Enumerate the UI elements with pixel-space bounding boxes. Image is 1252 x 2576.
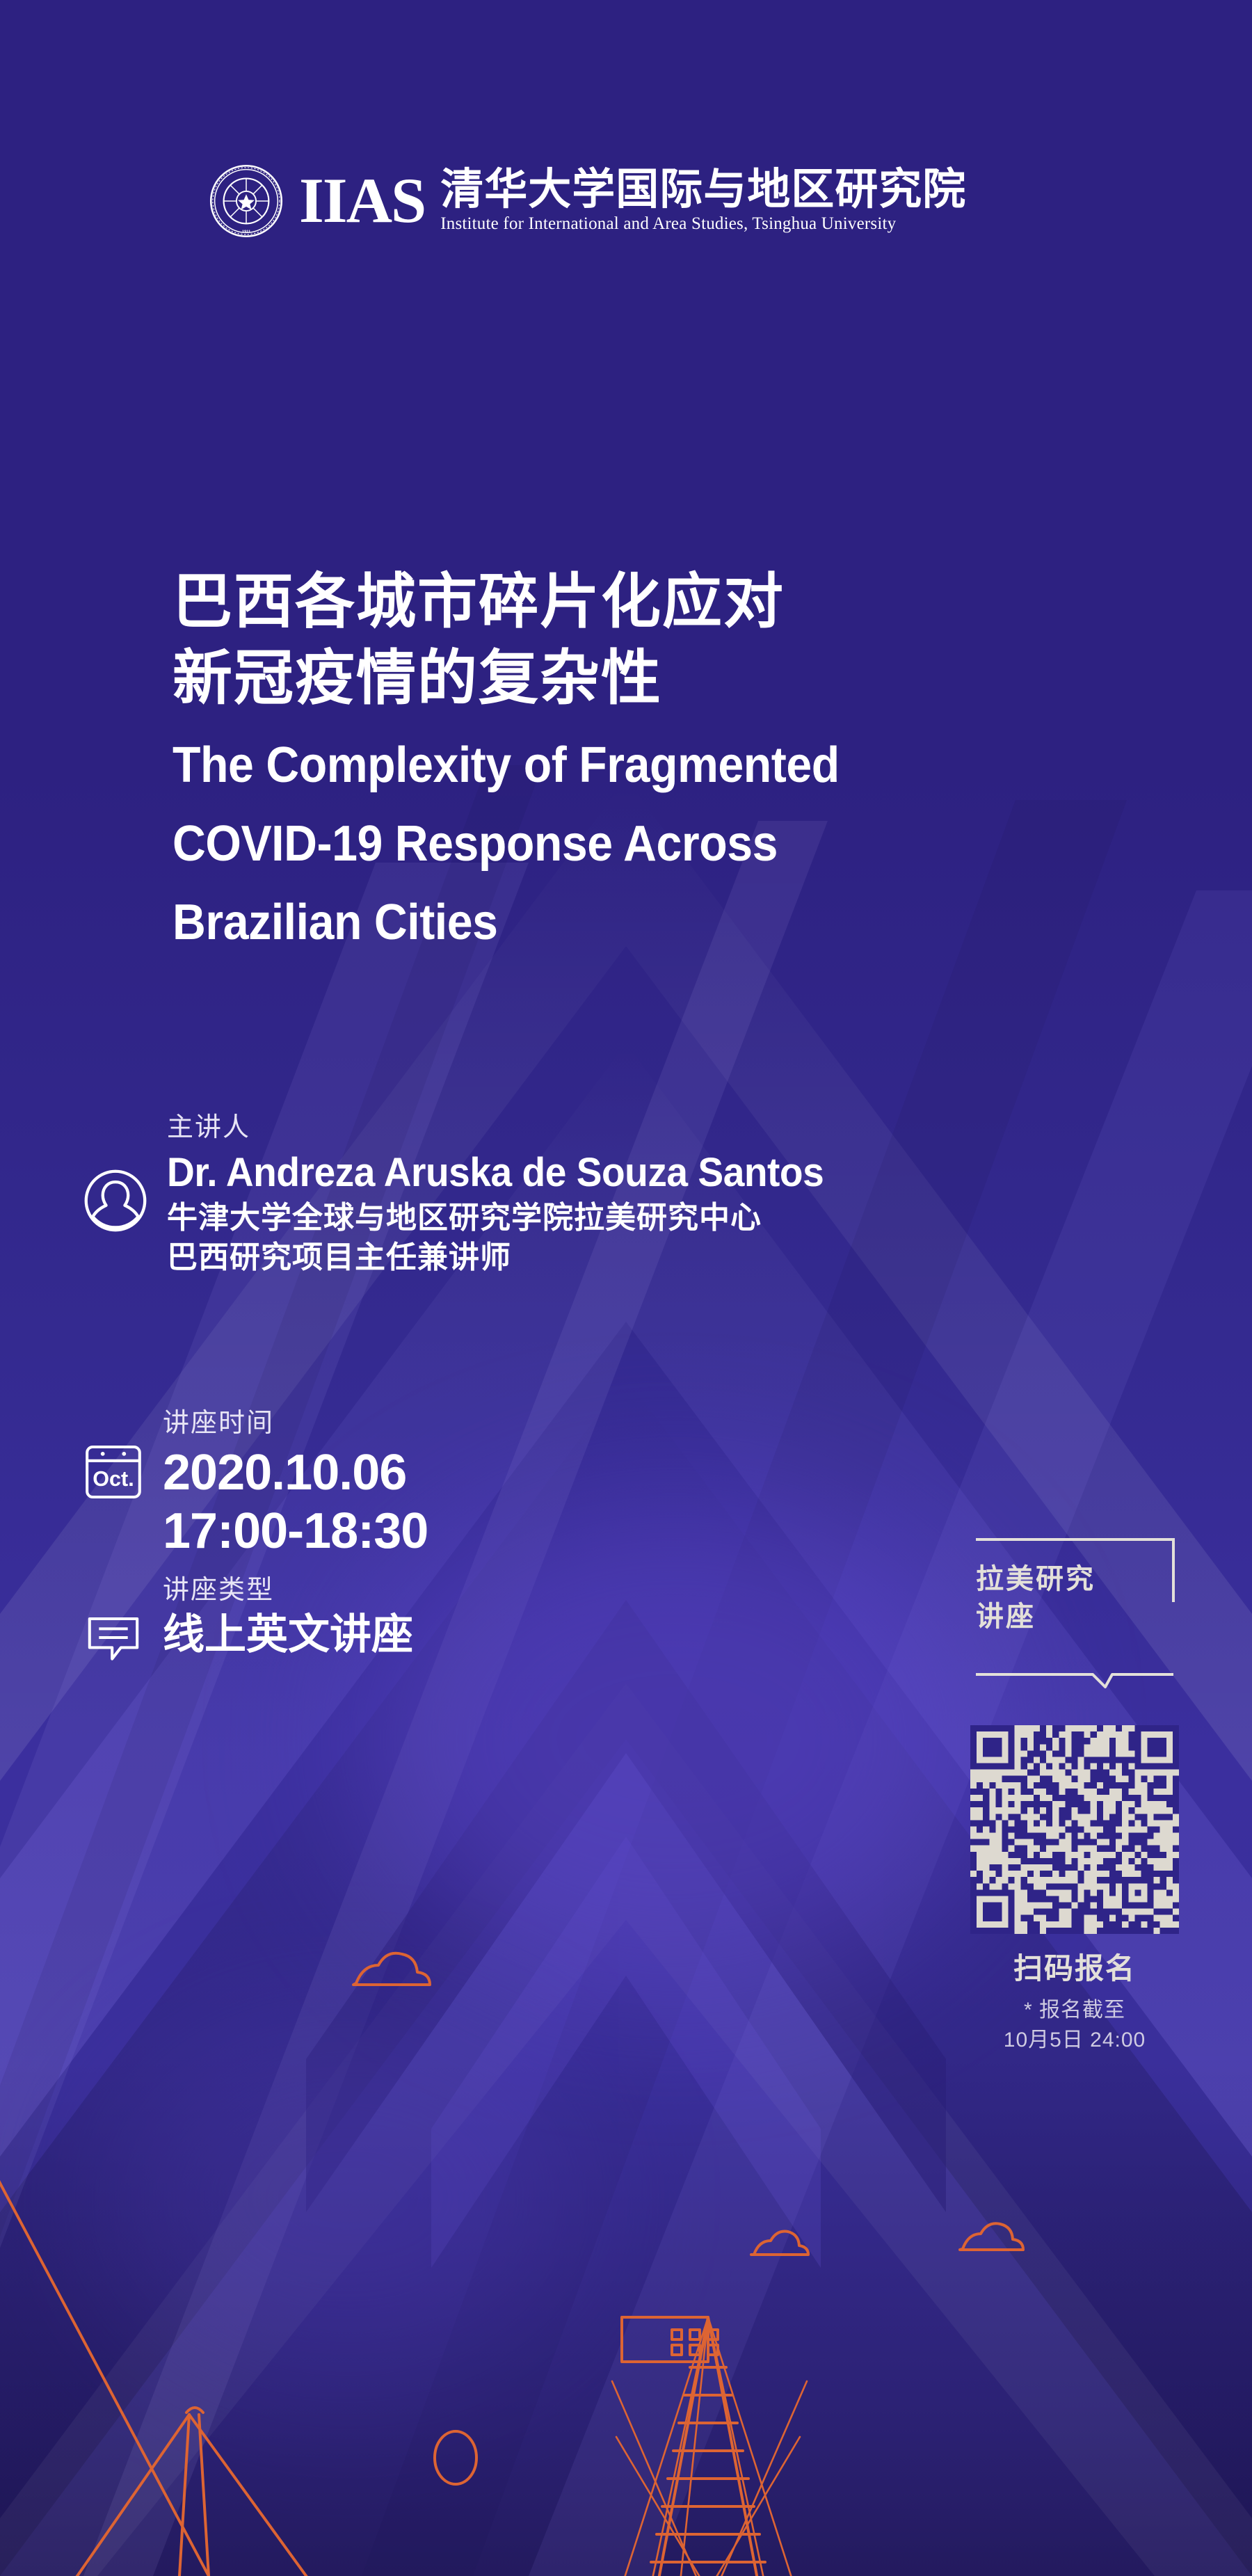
- datetime-row: Oct. 讲座时间 2020.10.06 17:00-18:30: [82, 1409, 428, 1560]
- title-cn-line2: 新冠疫情的复杂性: [172, 640, 1111, 717]
- event-date: 2020.10.06: [163, 1443, 428, 1502]
- brand-header: 1911 IIAS 清华大学国际与地区研究院 Institute for Int…: [209, 163, 966, 239]
- svg-text:Oct.: Oct.: [93, 1467, 134, 1491]
- speaker-affiliation-line2: 巴西研究项目主任兼讲师: [167, 1238, 858, 1277]
- brasilia-cathedral-skyline-illustration: [0, 1950, 1252, 2576]
- speaker-row: 主讲人 Dr. Andreza Aruska de Souza Santos 牛…: [82, 1113, 858, 1277]
- event-time: 17:00-18:30: [163, 1502, 428, 1560]
- series-badge: 拉美研究 讲座: [956, 1527, 1207, 1701]
- qr-code-icon[interactable]: [970, 1725, 1179, 1934]
- institute-name-cn: 清华大学国际与地区研究院: [440, 168, 966, 211]
- person-circle-icon: [82, 1167, 149, 1234]
- series-line2: 讲座: [976, 1598, 1095, 1635]
- series-line1: 拉美研究: [976, 1560, 1095, 1598]
- title-en-line1: The Complexity of Fragmented: [172, 736, 1036, 795]
- lecture-type-row: 讲座类型 线上英文讲座: [82, 1576, 413, 1669]
- speech-bubble-icon: [82, 1606, 145, 1669]
- title-cn-line1: 巴西各城市碎片化应对: [172, 563, 1111, 640]
- institute-name-en: Institute for International and Area Stu…: [440, 214, 966, 234]
- calendar-icon: Oct.: [82, 1441, 145, 1503]
- tsinghua-university-seal-icon: 1911: [209, 163, 284, 239]
- datetime-label: 讲座时间: [163, 1409, 428, 1439]
- title-block: 巴西各城市碎片化应对 新冠疫情的复杂性 The Complexity of Fr…: [172, 563, 1111, 952]
- lecture-type-label: 讲座类型: [163, 1576, 413, 1606]
- iias-acronym: IIAS: [299, 170, 425, 231]
- speaker-label: 主讲人: [167, 1113, 858, 1144]
- title-en-line2: COVID-19 Response Across: [172, 815, 1036, 874]
- speaker-affiliation-line1: 牛津大学全球与地区研究学院拉美研究中心: [167, 1199, 858, 1238]
- lecture-type-value: 线上英文讲座: [163, 1610, 413, 1659]
- title-en-line3: Brazilian Cities: [172, 893, 1036, 952]
- event-poster: 1911 IIAS 清华大学国际与地区研究院 Institute for Int…: [0, 0, 1252, 2576]
- speaker-name: Dr. Andreza Aruska de Souza Santos: [167, 1151, 824, 1195]
- svg-text:1911: 1911: [242, 229, 251, 234]
